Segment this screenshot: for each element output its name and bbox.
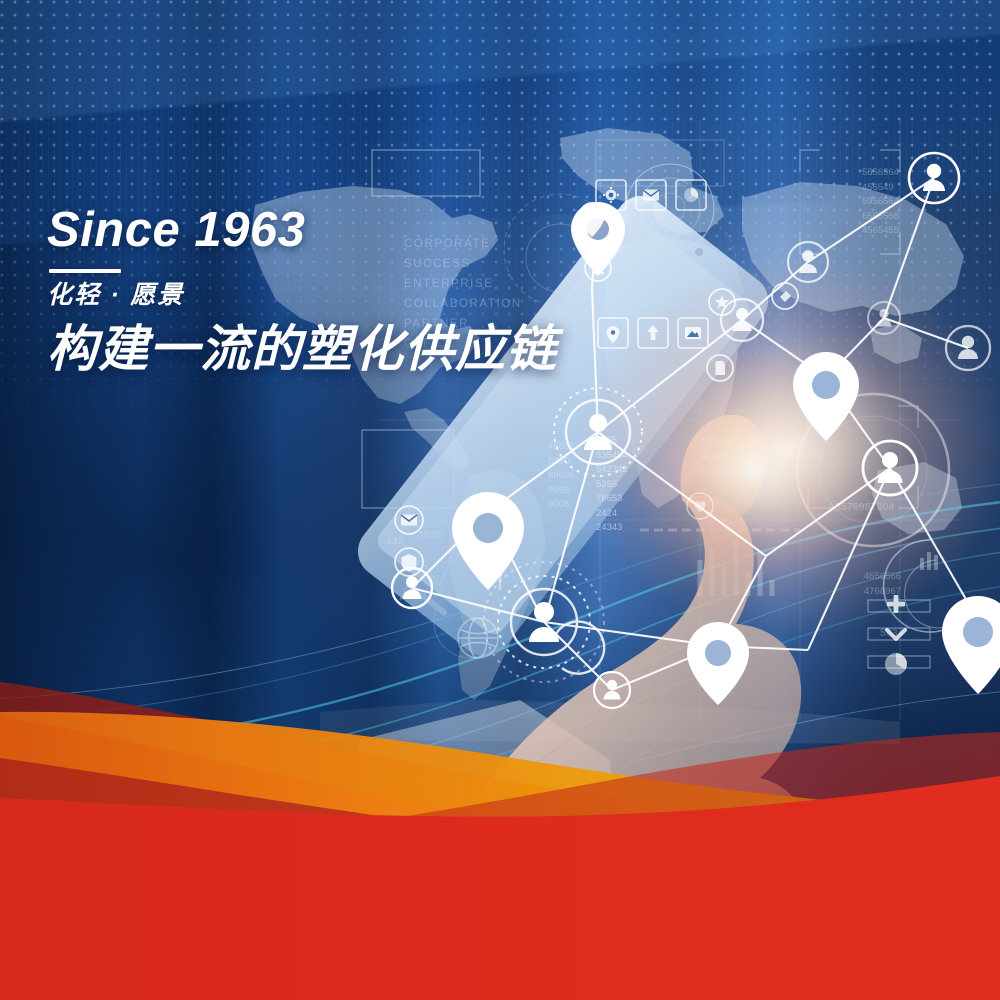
- shield-icon: [395, 548, 423, 576]
- eyebrow-text: Since 1963: [47, 206, 687, 256]
- banner-image: 35355354545423425355 78653242424343 4565…: [0, 0, 1000, 1000]
- heart-icon: [687, 493, 713, 519]
- plus-icon: [887, 595, 905, 613]
- pie-chart-icon: [684, 188, 698, 202]
- wave-decoration: [0, 670, 1000, 1000]
- divider-rule: [49, 269, 121, 273]
- tag-icon: [772, 283, 798, 309]
- document-icon: [707, 355, 733, 381]
- envelope-icon: [643, 190, 659, 201]
- bar-chart-icon: [920, 552, 938, 570]
- envelope-icon: [395, 506, 423, 534]
- headline-text: 构建一流的塑化供应链: [47, 321, 687, 377]
- image-icon: [685, 327, 701, 339]
- subtitle-text: 化轻 · 愿景: [47, 282, 687, 310]
- globe-icon: [458, 618, 498, 658]
- gear-icon: [603, 187, 619, 203]
- banner-copy: Since 1963 化轻 · 愿景 构建一流的塑化供应链: [47, 206, 687, 377]
- chevron-down-icon: [887, 630, 905, 639]
